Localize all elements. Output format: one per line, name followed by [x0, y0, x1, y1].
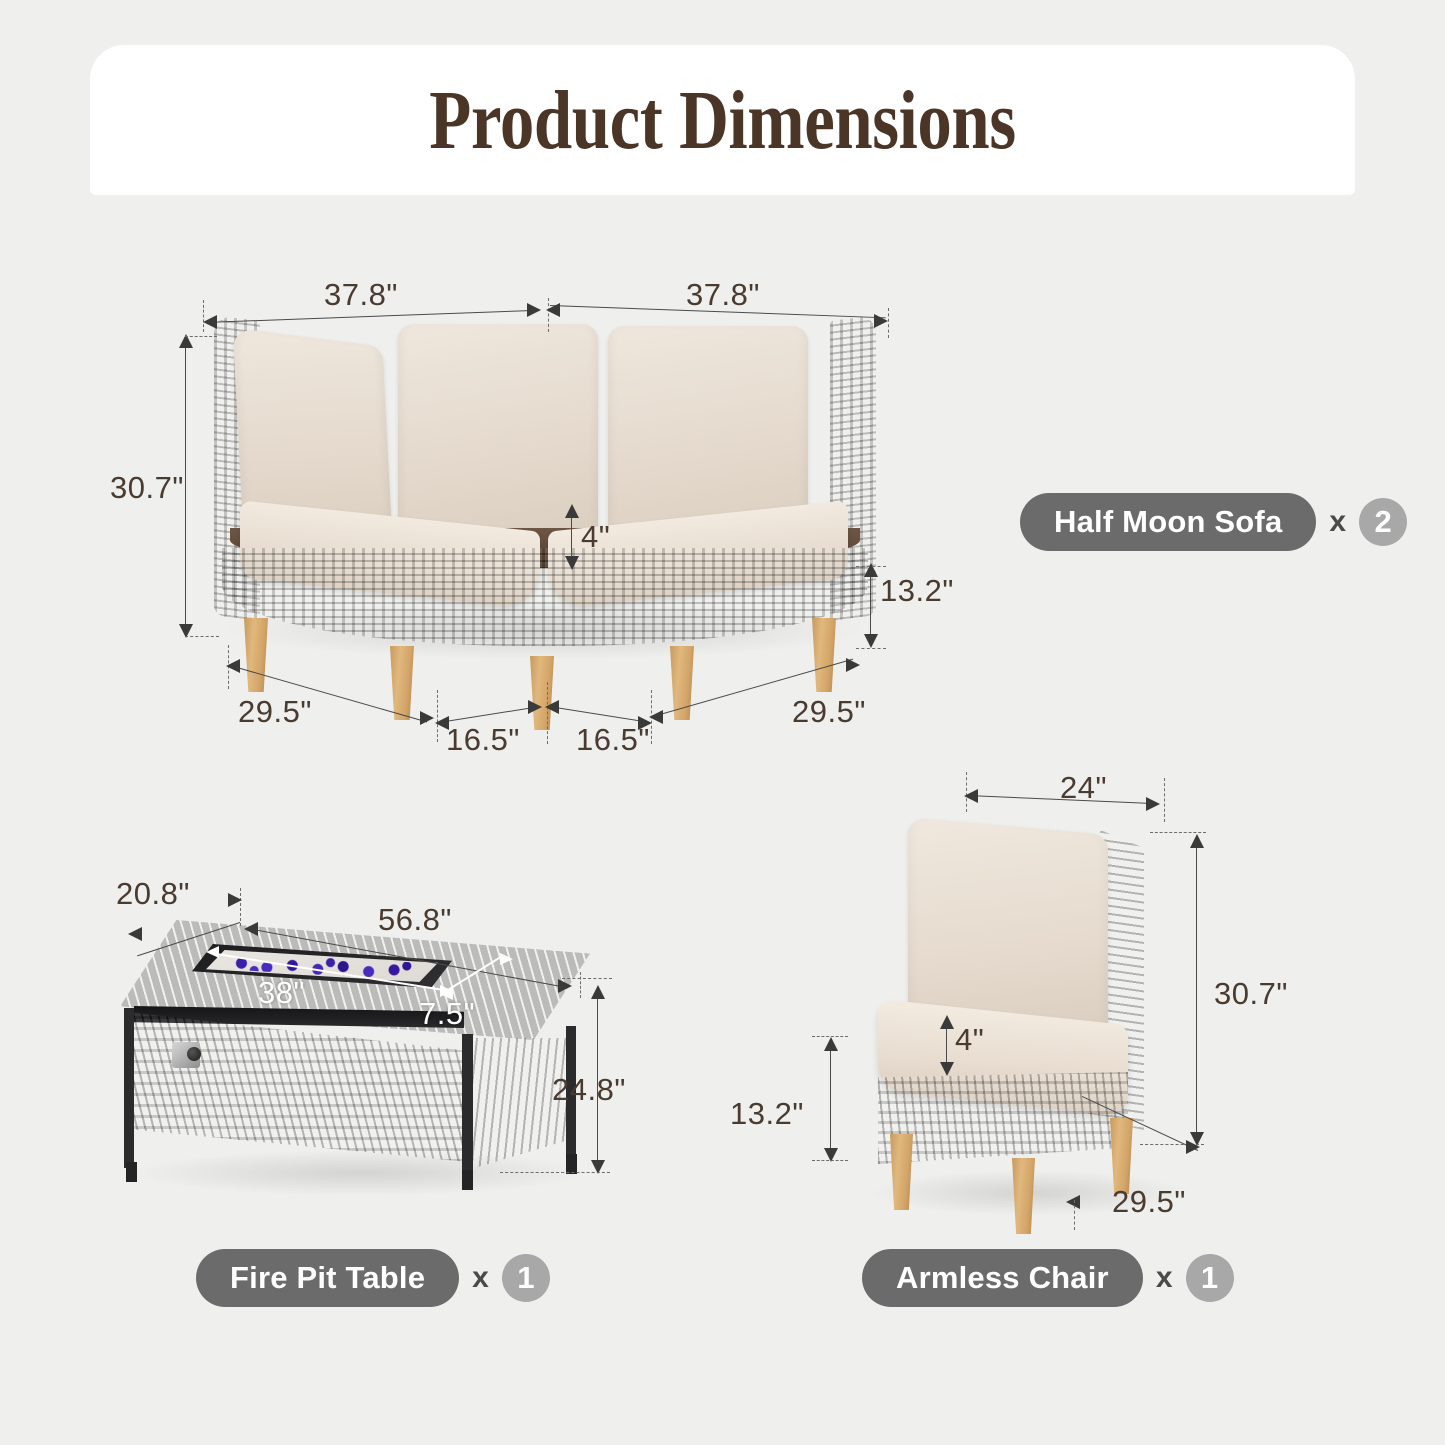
fp-dim-burner-width: 7.5"	[419, 996, 475, 1032]
sofa-ext-line	[185, 636, 219, 637]
armless-chair-name: Armless Chair	[862, 1249, 1143, 1307]
title-banner: Product Dimensions	[90, 45, 1355, 195]
arrow-right	[846, 658, 860, 672]
fp-dim-depth: 20.8"	[116, 876, 190, 912]
sofa-ext-line	[185, 336, 217, 337]
fire-pit-frame-post	[462, 1034, 473, 1176]
chair-dim-depth: 29.5"	[1112, 1184, 1186, 1220]
sofa-dim-height: 30.7"	[110, 470, 184, 506]
sofa-dim-line-base-right	[549, 706, 648, 723]
arrow-up	[1190, 834, 1204, 848]
sofa-ext-line	[856, 566, 886, 567]
fp-ext-line	[500, 1172, 610, 1173]
half-moon-sofa-quantity: 2	[1359, 498, 1407, 546]
sofa-dim-depth-left: 29.5"	[238, 694, 312, 730]
fp-dim-burner-length: 38"	[258, 975, 305, 1011]
page-title: Product Dimensions	[204, 45, 1241, 195]
half-moon-sofa-illustration	[200, 300, 890, 700]
arrow-down	[565, 556, 579, 570]
infographic-canvas: Product Dimensions 37.8"	[0, 0, 1445, 1445]
sofa-dim-width-right: 37.8"	[686, 277, 760, 313]
arrow-right	[527, 303, 541, 317]
arrow-right	[558, 979, 572, 993]
arrow-right	[1146, 797, 1160, 811]
arrow-up	[591, 985, 605, 999]
multiplier-symbol: x	[472, 1261, 489, 1295]
arrow-right	[528, 700, 542, 714]
arrow-left	[244, 922, 258, 936]
arrow-left	[546, 303, 560, 317]
fp-dim-height: 24.8"	[552, 1072, 626, 1108]
sofa-dim-seat-height: 13.2"	[880, 573, 954, 609]
chair-leg	[1012, 1158, 1035, 1234]
chair-ext-line	[1074, 1200, 1075, 1230]
arrow-left	[128, 927, 142, 941]
arrow-up	[824, 1037, 838, 1051]
sofa-ext-line	[856, 648, 886, 649]
fire-pit-front-wicker-panel	[128, 1012, 468, 1162]
fire-pit-table-badge: Fire Pit Table x 1	[196, 1249, 550, 1307]
fire-pit-table-quantity: 1	[502, 1254, 550, 1302]
armless-chair-quantity: 1	[1186, 1254, 1234, 1302]
chair-dim-seat-height: 13.2"	[730, 1096, 804, 1132]
sofa-dim-line-base-left	[439, 706, 538, 723]
arrow-right	[420, 711, 434, 725]
chair-dim-height: 30.7"	[1214, 976, 1288, 1012]
arrow-right	[1186, 1140, 1200, 1154]
armless-chair-illustration	[860, 800, 1230, 1240]
half-moon-sofa-badge: Half Moon Sofa x 2	[1020, 493, 1407, 551]
sofa-leg	[244, 618, 268, 692]
arrow-right	[874, 314, 888, 328]
chair-ext-line	[1150, 832, 1206, 833]
arrow-down	[864, 634, 878, 648]
chair-ext-line	[812, 1160, 848, 1161]
sofa-leg	[530, 656, 554, 730]
arrow-left	[649, 710, 663, 724]
arrow-right-white	[500, 953, 513, 965]
fp-dim-length: 56.8"	[378, 902, 452, 938]
arrow-left	[226, 659, 240, 673]
fp-ext-line	[580, 972, 581, 998]
fire-pit-foot	[566, 1154, 577, 1174]
fire-pit-frame-post	[124, 1008, 134, 1168]
sofa-dim-cushion: 4"	[581, 519, 610, 555]
sofa-leg	[390, 646, 414, 720]
arrow-down	[940, 1062, 954, 1076]
multiplier-symbol: x	[1156, 1261, 1173, 1295]
fire-pit-foot	[126, 1162, 137, 1182]
chair-dim-cushion: 4"	[955, 1022, 984, 1058]
chair-dim-line-height	[1196, 838, 1197, 1142]
arrow-up	[565, 504, 579, 518]
sofa-dim-width-left: 37.8"	[324, 277, 398, 313]
fire-pit-foot	[462, 1170, 473, 1190]
arrow-left	[203, 315, 217, 329]
chair-dim-width: 24"	[1060, 770, 1107, 806]
sofa-dim-base-left: 16.5"	[446, 722, 520, 758]
fire-pit-control-knob[interactable]	[172, 1042, 200, 1068]
sofa-leg	[812, 618, 836, 692]
fp-ext-line	[562, 978, 612, 979]
chair-dim-line-seat-height	[830, 1040, 831, 1160]
sofa-dim-line-height	[185, 336, 186, 636]
arrow-up	[940, 1015, 954, 1029]
arrow-left	[545, 700, 559, 714]
multiplier-symbol: x	[1329, 505, 1346, 539]
sofa-ext-line	[888, 308, 889, 338]
arrow-left	[1066, 1195, 1080, 1209]
arrow-left	[964, 789, 978, 803]
arrow-left-white	[206, 946, 219, 958]
sofa-dim-base-right: 16.5"	[576, 722, 650, 758]
arrow-right	[228, 893, 242, 907]
chair-ext-line	[1164, 778, 1165, 822]
fire-pit-table-name: Fire Pit Table	[196, 1249, 459, 1307]
armless-chair-badge: Armless Chair x 1	[862, 1249, 1234, 1307]
half-moon-sofa-name: Half Moon Sofa	[1020, 493, 1316, 551]
sofa-dim-depth-right: 29.5"	[792, 694, 866, 730]
fire-pit-table-illustration	[120, 900, 640, 1200]
fire-pit-shadow	[130, 1150, 590, 1196]
chair-wicker-base	[878, 1072, 1128, 1164]
